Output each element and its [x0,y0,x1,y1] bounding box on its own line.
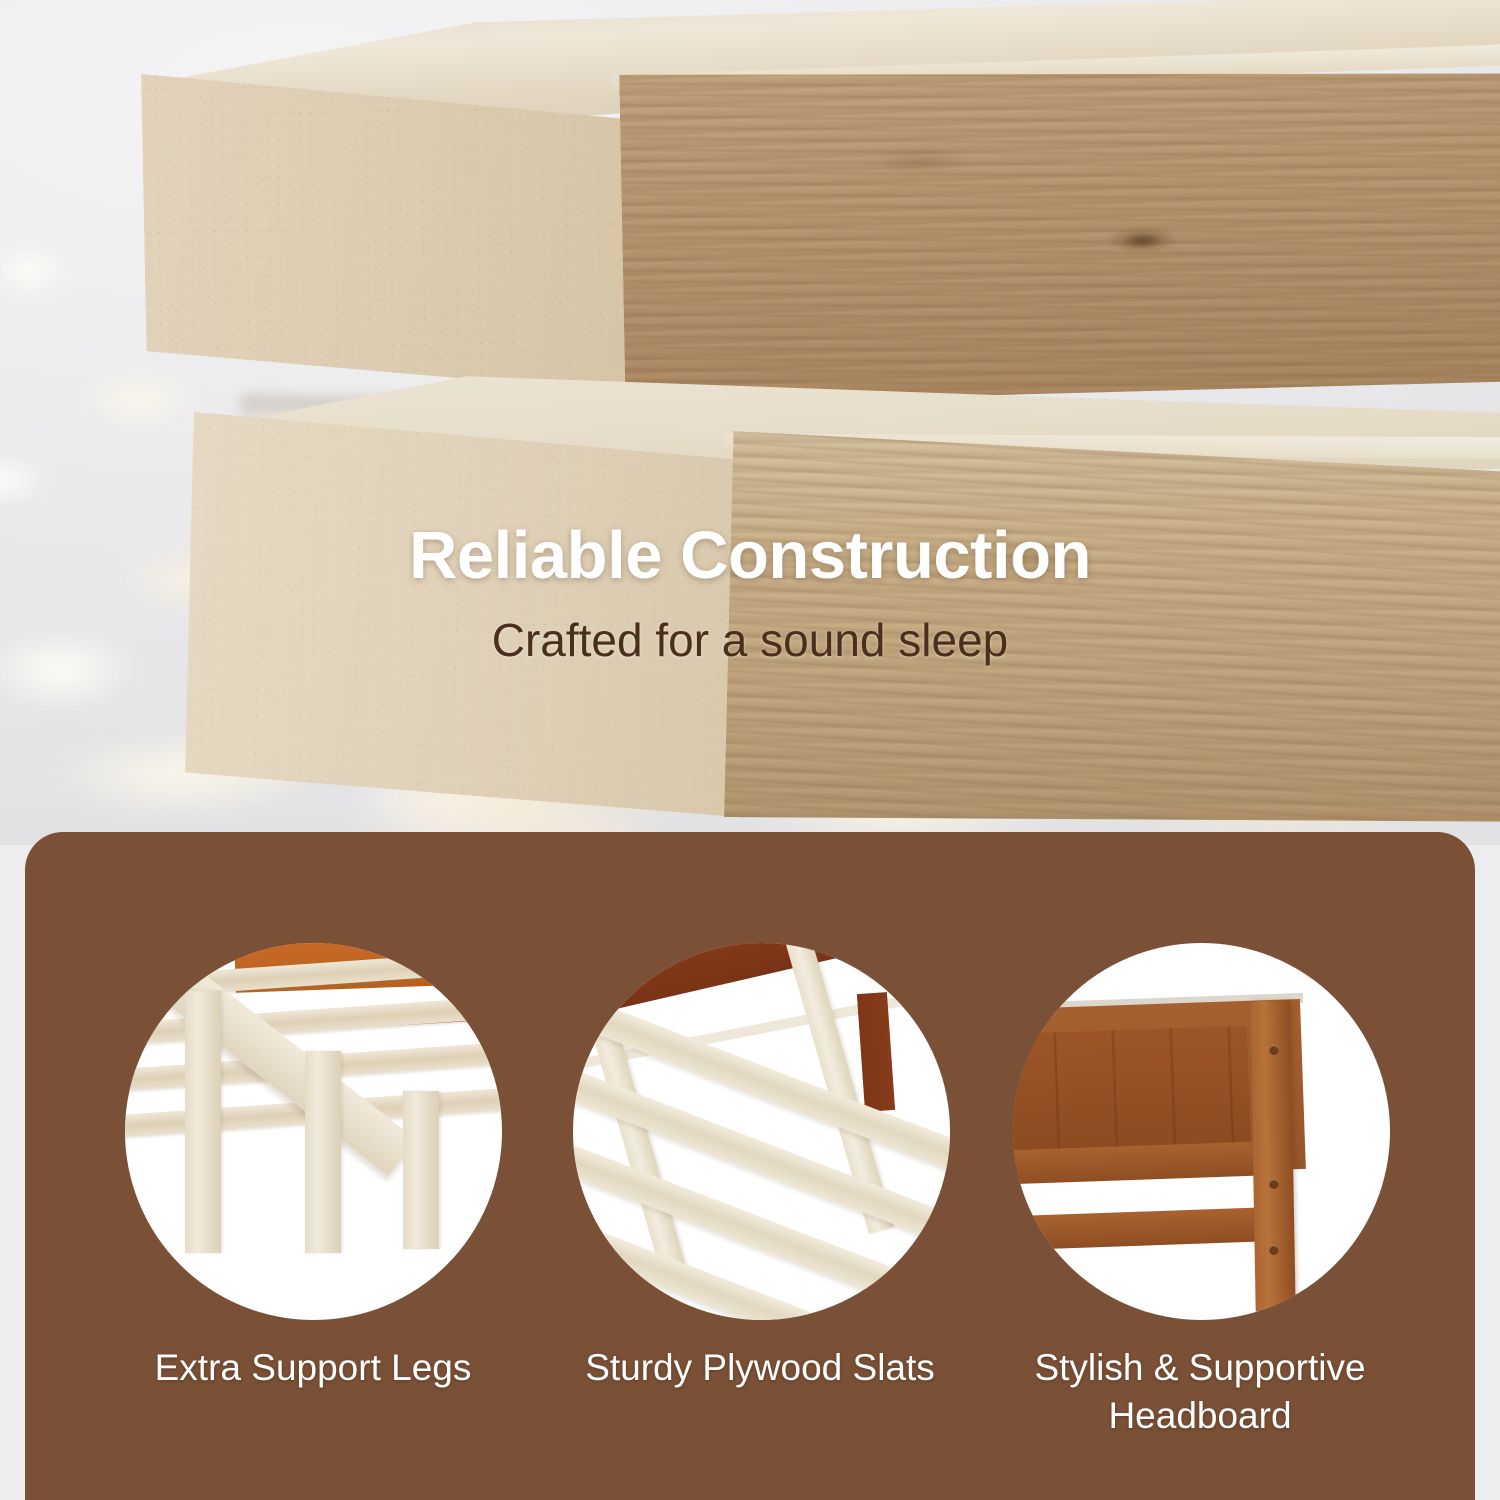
feature-image-headboard [1013,943,1390,1320]
feature-image-plywood-slats [573,943,950,1320]
plank-grain-face [619,57,1500,405]
feature-caption-support-legs: Extra Support Legs [103,1344,523,1392]
feature-image-row [25,943,1475,1321]
headboard-rail [1013,1141,1263,1186]
screw-hole-icon [1269,1245,1279,1255]
feature-caption-plywood-slats: Sturdy Plywood Slats [550,1344,970,1392]
headboard-rail [1013,1207,1263,1252]
support-leg [305,1051,341,1253]
bed-post-dark [857,992,895,1112]
feature-image-support-legs [125,943,502,1320]
hero-photo [0,0,1500,845]
hero-text-block: Reliable Construction Crafted for a soun… [0,520,1500,666]
headboard-panel [1013,1026,1251,1163]
support-leg [185,991,221,1253]
feature-caption-row: Extra Support Legs Sturdy Plywood Slats … [25,1344,1475,1494]
plank-end-grain [141,64,647,404]
support-leg [403,1091,439,1249]
feature-panel: Extra Support Legs Sturdy Plywood Slats … [25,832,1475,1500]
subheadline: Crafted for a sound sleep [0,616,1500,666]
feature-caption-headboard: Stylish & Supportive Headboard [990,1344,1410,1440]
screw-hole-icon [1269,1045,1279,1055]
headline: Reliable Construction [0,520,1500,591]
screw-hole-icon [1269,1179,1279,1189]
